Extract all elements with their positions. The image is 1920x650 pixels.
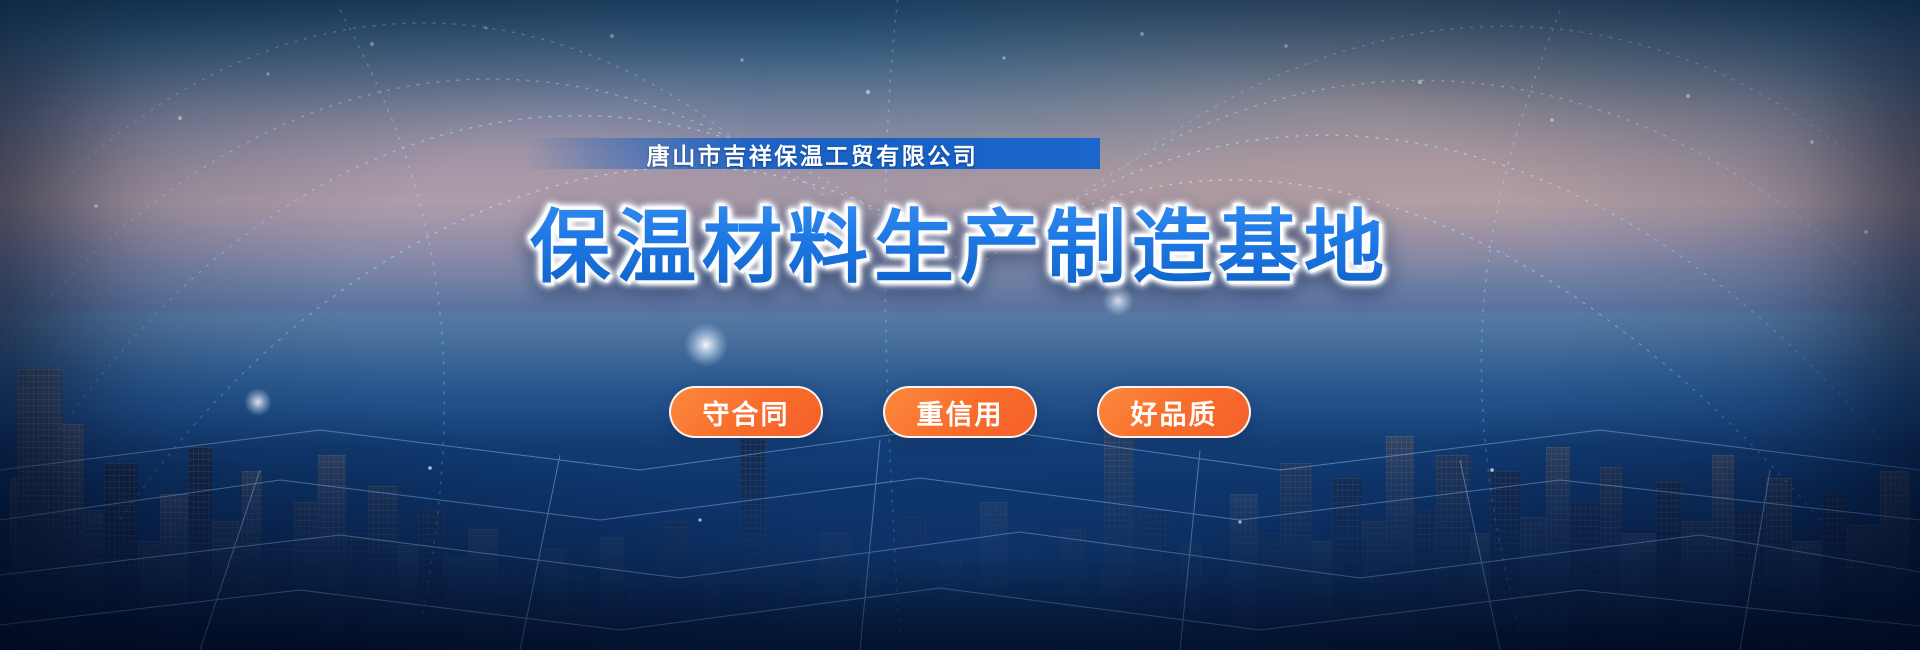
- headline-row: 保温材料生产制造基地: [0, 183, 1920, 299]
- feature-tag-label: 守合同: [703, 393, 790, 432]
- banner-content: 唐山市吉祥保温工贸有限公司 保温材料生产制造基地 守合同 重信用 好品质: [0, 0, 1920, 650]
- feature-tag-zhongxinyong[interactable]: 重信用: [883, 386, 1037, 438]
- company-name-bar: 唐山市吉祥保温工贸有限公司: [525, 138, 1100, 169]
- headline-text: 保温材料生产制造基地: [530, 183, 1390, 299]
- feature-tag-shouhetong[interactable]: 守合同: [669, 386, 823, 438]
- feature-tag-label: 重信用: [917, 393, 1004, 432]
- hero-banner: 唐山市吉祥保温工贸有限公司 保温材料生产制造基地 守合同 重信用 好品质: [0, 0, 1920, 650]
- feature-tag-label: 好品质: [1131, 393, 1218, 432]
- feature-tag-haopinzhi[interactable]: 好品质: [1097, 386, 1251, 438]
- company-name-text: 唐山市吉祥保温工贸有限公司: [647, 137, 979, 171]
- feature-tag-list: 守合同 重信用 好品质: [0, 386, 1920, 438]
